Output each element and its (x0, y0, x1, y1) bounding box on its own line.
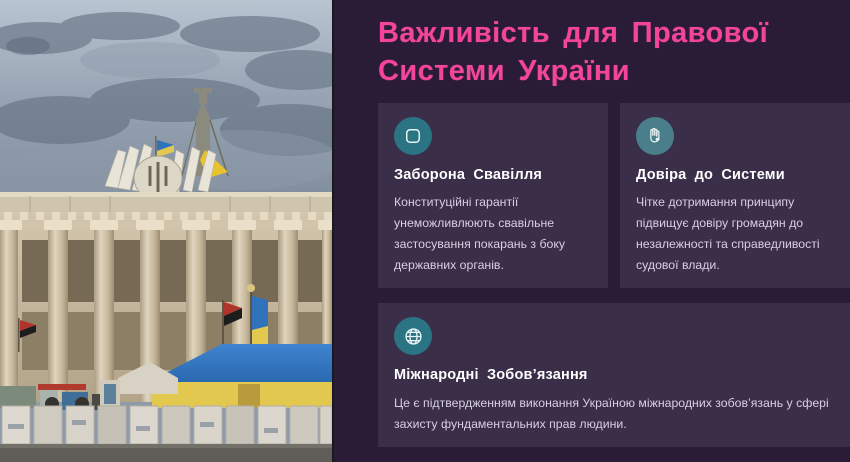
panel-divider (332, 0, 336, 462)
card-mizhnarodni-zobovyazannia[interactable]: Міжнародні Зобов’язання Це є підтверджен… (378, 303, 850, 447)
content-panel: Важливість для Правової Системи України … (332, 0, 850, 462)
card-title: Міжнародні Зобов’язання (394, 367, 834, 383)
card-zaborona-svavillia[interactable]: Заборона Свавілля Конституційні гарантії… (378, 103, 608, 289)
shield-square-icon (394, 117, 432, 155)
card-row-top: Заборона Свавілля Конституційні гарантії… (378, 103, 850, 289)
card-body: Це є підтвердженням виконання Україною м… (394, 393, 834, 435)
building-photo (0, 0, 332, 462)
page-title: Важливість для Правової Системи України (378, 14, 850, 91)
card-body: Конституційні гарантії унеможливлюють св… (394, 192, 592, 277)
card-title: Заборона Свавілля (394, 167, 592, 183)
slide-root: Важливість для Правової Системи України … (0, 0, 850, 462)
globe-icon (394, 317, 432, 355)
hand-heart-icon (636, 117, 674, 155)
photo-panel (0, 0, 332, 462)
card-dovira-do-systemy[interactable]: Довіра до Системи Чітке дотримання принц… (620, 103, 850, 289)
card-body: Чітке дотримання принципу підвищує довір… (636, 192, 834, 277)
card-title: Довіра до Системи (636, 167, 834, 183)
cards-area: Заборона Свавілля Конституційні гарантії… (378, 103, 850, 448)
